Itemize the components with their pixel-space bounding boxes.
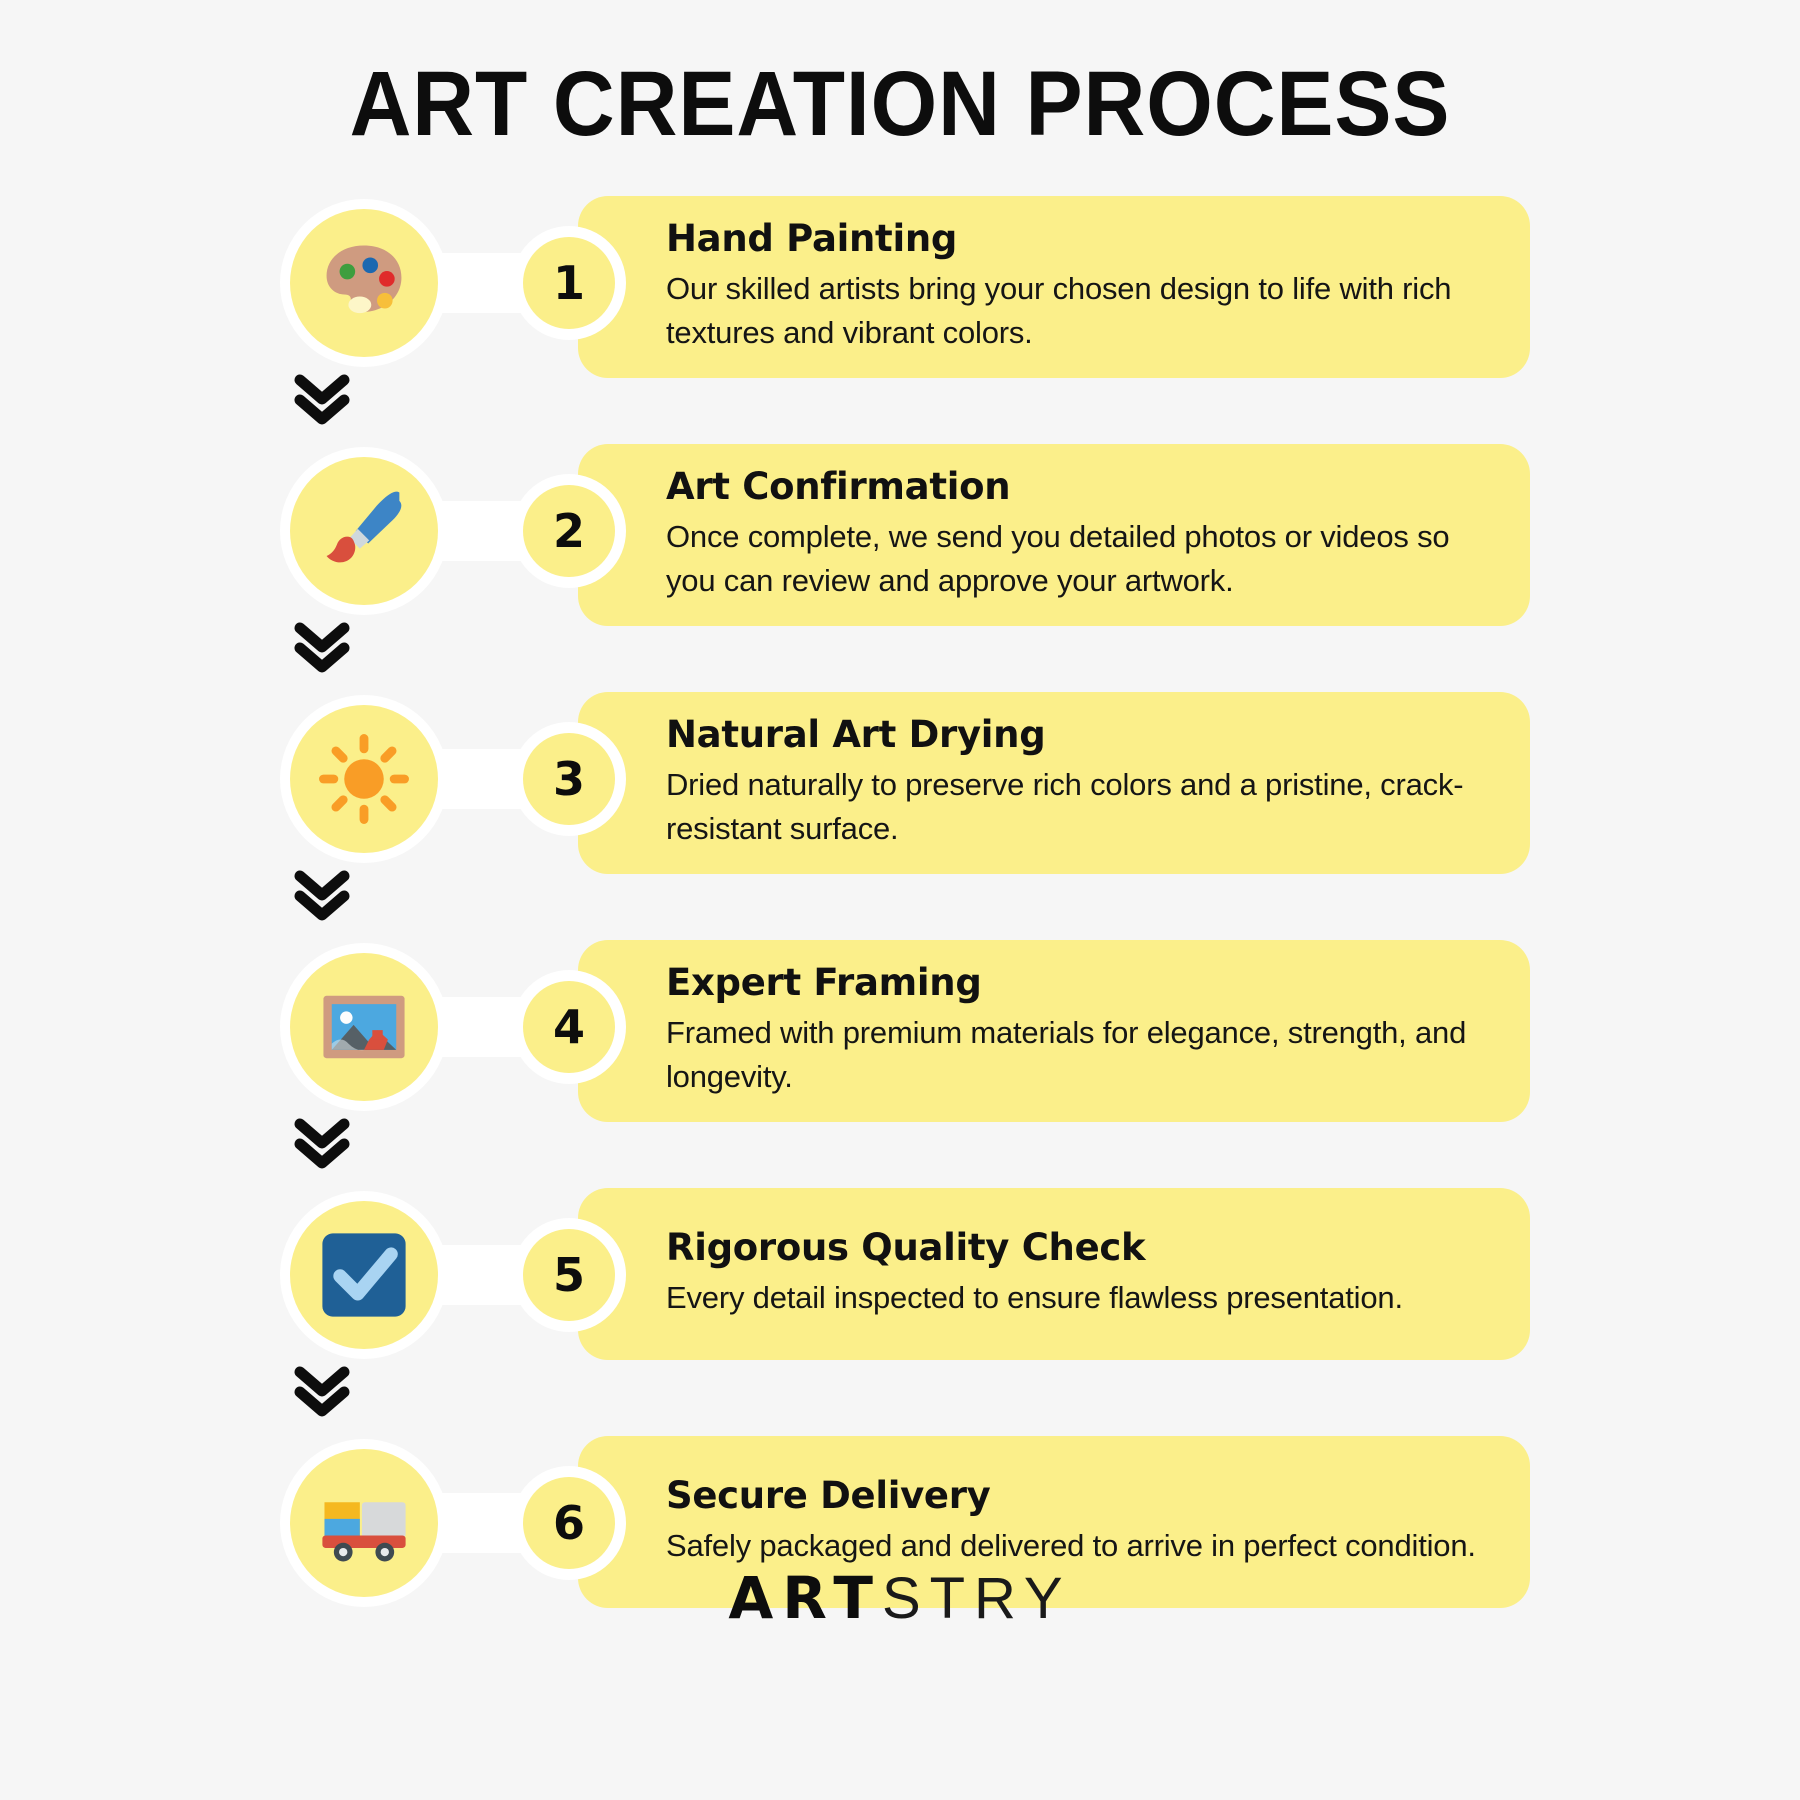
process-step: Expert Framing Framed with premium mater… [0,940,1800,1114]
step-card[interactable]: Hand Painting Our skilled artists bring … [578,196,1530,378]
step-card[interactable]: Natural Art Drying Dried naturally to pr… [578,692,1530,874]
step-card[interactable]: Expert Framing Framed with premium mater… [578,940,1530,1122]
step-title: Rigorous Quality Check [666,1227,1490,1270]
step-title: Art Confirmation [666,466,1490,509]
framed-picture-icon-svg [312,975,416,1079]
step-number: 1 [523,237,615,329]
step-icon-ring [280,943,448,1111]
double-chevron-down-icon [292,868,352,924]
process-step-list: Hand Painting Our skilled artists bring … [0,196,1800,1610]
process-step: Hand Painting Our skilled artists bring … [0,196,1800,370]
step-number: 2 [523,485,615,577]
step-number-badge: 1 [512,226,626,340]
step-number-badge: 6 [512,1466,626,1580]
step-description: Safely packaged and delivered to arrive … [666,1524,1490,1569]
double-chevron-down-icon-svg [292,1116,352,1172]
step-title: Hand Painting [666,218,1490,261]
step-description: Every detail inspected to ensure flawles… [666,1276,1490,1321]
logo-text-light: STRY [882,1566,1072,1631]
step-icon-ring [280,1439,448,1607]
process-step: Art Confirmation Once complete, we send … [0,444,1800,618]
infographic-page: ART CREATION PROCESS Hand Painting Our s… [0,0,1800,1800]
logo-text-bold: ART [728,1564,882,1632]
page-title: ART CREATION PROCESS [63,52,1737,157]
step-icon-ring [280,199,448,367]
step-number-badge: 3 [512,722,626,836]
sun-icon-svg [312,727,416,831]
palette-icon [290,209,438,357]
process-step: Rigorous Quality Check Every detail insp… [0,1188,1800,1362]
step-icon-ring [280,447,448,615]
framed-picture-icon [290,953,438,1101]
paintbrush-icon-svg [312,479,416,583]
palette-icon-svg [312,231,416,335]
step-description: Our skilled artists bring your chosen de… [666,267,1490,357]
step-description: Once complete, we send you detailed phot… [666,515,1490,605]
delivery-truck-icon-svg [312,1471,416,1575]
double-chevron-down-icon [292,372,352,428]
paintbrush-icon [290,457,438,605]
step-title: Expert Framing [666,962,1490,1005]
double-chevron-down-icon-svg [292,868,352,924]
step-icon-ring [280,695,448,863]
double-chevron-down-icon [292,1116,352,1172]
check-mark-button-icon-svg [312,1223,416,1327]
double-chevron-down-icon-svg [292,372,352,428]
step-number: 5 [523,1229,615,1321]
step-number-badge: 4 [512,970,626,1084]
step-title: Secure Delivery [666,1475,1490,1518]
step-number: 3 [523,733,615,825]
double-chevron-down-icon [292,620,352,676]
step-title: Natural Art Drying [666,714,1490,757]
step-number: 6 [523,1477,615,1569]
process-step: Natural Art Drying Dried naturally to pr… [0,692,1800,866]
step-description: Framed with premium materials for elegan… [666,1011,1490,1101]
double-chevron-down-icon [292,1364,352,1420]
step-number-badge: 2 [512,474,626,588]
double-chevron-down-icon-svg [292,1364,352,1420]
check-mark-button-icon [290,1201,438,1349]
step-description: Dried naturally to preserve rich colors … [666,763,1490,853]
step-number: 4 [523,981,615,1073]
step-card[interactable]: Rigorous Quality Check Every detail insp… [578,1188,1530,1360]
delivery-truck-icon [290,1449,438,1597]
step-number-badge: 5 [512,1218,626,1332]
sun-icon [290,705,438,853]
step-card[interactable]: Art Confirmation Once complete, we send … [578,444,1530,626]
brand-logo: ARTSTRY [0,1564,1800,1632]
double-chevron-down-icon-svg [292,620,352,676]
step-icon-ring [280,1191,448,1359]
